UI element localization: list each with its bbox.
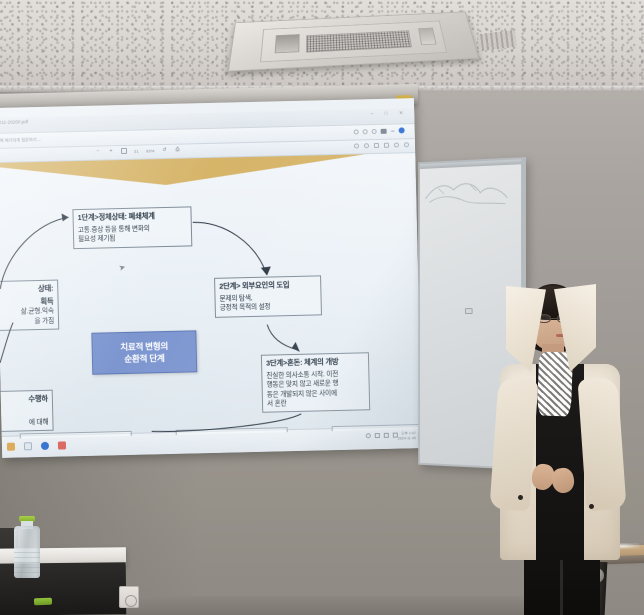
bottle-body xyxy=(14,526,40,578)
flow-node-left-upper[interactable]: 상태: 획득 삶.균형.익숙 을 가짐 xyxy=(0,280,59,333)
classroom-scene: 2011-20200.pdf – □ ✕ 통해 제기되게 질문하기 ... − … xyxy=(0,0,644,615)
flow-node-stage2[interactable]: 2단계> 외부요인의 도입 문제의 탐색, 긍정적 목적의 설정 xyxy=(214,275,322,317)
taskbar-clock[interactable]: 오후 1:42 2024-11-06 xyxy=(398,431,416,441)
profile-avatar[interactable] xyxy=(399,127,405,133)
whiteboard-frame-top xyxy=(420,159,521,169)
floor xyxy=(120,596,560,615)
ac-vent-right xyxy=(418,28,437,45)
presenter xyxy=(480,282,644,615)
edge-icon[interactable] xyxy=(41,442,49,450)
fit-page-icon[interactable] xyxy=(121,148,127,154)
water-bottle xyxy=(14,516,40,578)
node-title: 수행하 xyxy=(0,394,48,406)
more-options-icon[interactable] xyxy=(404,142,409,147)
print-icon[interactable]: ⎙ xyxy=(174,147,180,153)
node-body: 에 대해 xyxy=(0,418,49,429)
mouse-cursor-icon: ➤ xyxy=(118,262,127,272)
node-body-line: 에 대해 xyxy=(0,418,49,429)
rotate-icon[interactable]: ↺ xyxy=(161,147,167,153)
explorer-icon[interactable] xyxy=(24,442,32,450)
window-controls[interactable]: – □ ✕ xyxy=(370,110,408,117)
collections-icon[interactable] xyxy=(372,128,377,133)
whiteboard-marker-traces xyxy=(422,174,513,219)
page-view-icon[interactable] xyxy=(374,143,379,148)
folder-icon[interactable] xyxy=(7,443,15,451)
taskbar-icons[interactable] xyxy=(7,441,66,450)
zoom-in-button[interactable]: + xyxy=(108,148,114,154)
system-tray[interactable] xyxy=(366,433,398,439)
network-icon[interactable] xyxy=(375,433,380,438)
center-title-line1: 치료적 변형의 xyxy=(120,340,168,353)
address-bar-text[interactable]: 통해 제기되게 질문하기 ... xyxy=(0,137,41,144)
scarf xyxy=(537,351,573,416)
center-title-line2: 순환적 단계 xyxy=(124,352,164,365)
zoom-level[interactable]: 93% xyxy=(146,148,155,153)
node-title: 1단계>정체상태: 폐쇄체계 xyxy=(77,210,186,223)
node-body: 문제의 탐색, 긍정적 목적의 설정 xyxy=(219,292,316,313)
browser-tab-title[interactable]: 2011-20200.pdf xyxy=(0,119,28,125)
search-pdf-icon[interactable] xyxy=(354,143,359,148)
whiteboard-magnet xyxy=(465,308,473,314)
projector-screen[interactable]: 2011-20200.pdf – □ ✕ 통해 제기되게 질문하기 ... − … xyxy=(0,98,422,458)
eye-left xyxy=(542,317,546,319)
node-body: 진실한 의사소통 시작. 이전 행동은 맞지 않고 새로운 행 동은 개발되지 … xyxy=(266,369,365,409)
highlight-icon[interactable] xyxy=(394,142,399,147)
flow-node-left-lower[interactable]: 수행하 에 대해 xyxy=(0,390,54,434)
cuff-button-right xyxy=(589,504,594,509)
zoom-out-button[interactable]: − xyxy=(95,148,101,154)
cuff-button-left xyxy=(518,495,523,500)
node-body-line: 필요성 제기됨 xyxy=(78,233,187,245)
green-object xyxy=(34,598,52,606)
center-title-box[interactable]: 치료적 변형의 순환적 단계 xyxy=(91,330,197,374)
volume-icon[interactable] xyxy=(384,433,389,438)
node-title: 3단계>혼돈: 체계의 개방 xyxy=(266,356,364,368)
flow-node-stage1[interactable]: 1단계>정체상태: 폐쇄체계 고통.증상 등을 통해 변화의 필요성 제기됨 xyxy=(72,206,192,249)
clock-date: 2024-11-06 xyxy=(398,436,416,441)
node-body-line: 서 혼란 xyxy=(267,397,365,409)
node-body-line: 을 가짐 xyxy=(0,316,54,328)
search-icon[interactable] xyxy=(354,129,359,134)
app-icon[interactable] xyxy=(58,441,66,449)
ac-inner-panel xyxy=(260,20,447,62)
minimize-icon[interactable] xyxy=(391,130,395,131)
flow-node-stage3[interactable]: 3단계>혼돈: 체계의 개방 진실한 의사소통 시작. 이전 행동은 맞지 않고… xyxy=(261,352,370,413)
ac-vent-left xyxy=(275,34,299,53)
browser-toolbar-icons[interactable] xyxy=(354,127,405,134)
extensions-icon[interactable] xyxy=(381,128,387,133)
node-title: 2단계> 외부요인의 도입 xyxy=(219,279,316,291)
wall-outlet-icon xyxy=(119,586,139,608)
pdf-slide: 1단계>정체상태: 폐쇄체계 고통.증상 등을 통해 변화의 필요성 제기됨 2… xyxy=(0,153,422,436)
node-body-line: 긍정적 목적의 설정 xyxy=(220,302,317,314)
bottle-ribs xyxy=(14,552,40,574)
chevron-up-icon[interactable] xyxy=(366,433,371,438)
draw-icon[interactable] xyxy=(384,143,389,148)
node-body: 고통.증상 등을 통해 변화의 필요성 제기됨 xyxy=(78,223,187,244)
node-title: 상태: xyxy=(0,284,53,296)
minus-circle-icon[interactable] xyxy=(364,143,369,148)
star-icon[interactable] xyxy=(363,129,368,134)
ac-grille xyxy=(306,30,412,52)
page-number[interactable]: 21 xyxy=(134,148,139,153)
node-body: 획득 삶.균형.익숙 을 가짐 xyxy=(0,297,54,328)
